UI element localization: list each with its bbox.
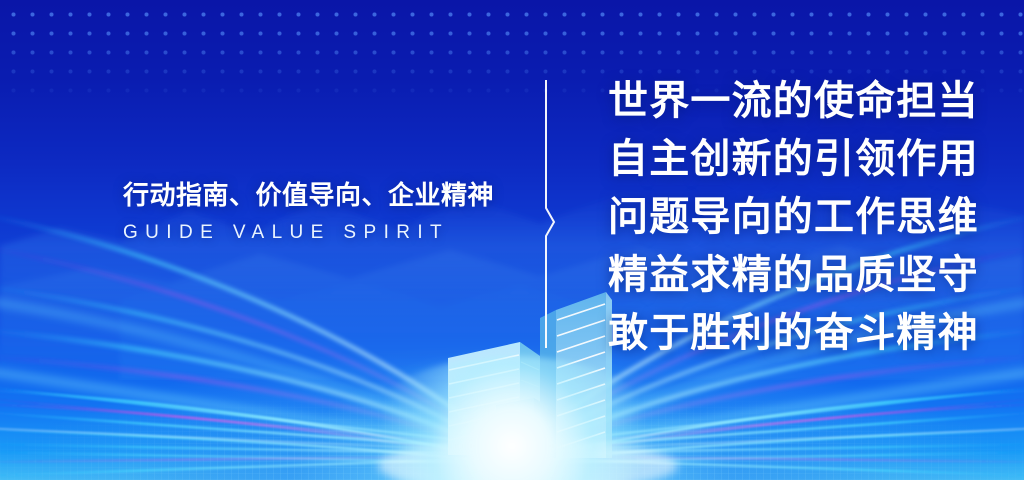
slogan-line-1: 世界一流的使命担当 [608, 72, 978, 130]
slogan-line-5: 敢于胜利的奋斗精神 [608, 304, 978, 362]
vertical-divider [528, 80, 568, 348]
halftone-dot-pattern-overlay [0, 0, 1024, 60]
slogan-line-4: 精益求精的品质坚守 [608, 246, 978, 304]
center-light-bloom [362, 356, 662, 480]
left-subtitle: GUIDE VALUE SPIRIT [123, 222, 523, 244]
right-text-block: 世界一流的使命担当 自主创新的引领作用 问题导向的工作思维 精益求精的品质坚守 … [608, 72, 978, 362]
left-text-block: 行动指南、价值导向、企业精神 GUIDE VALUE SPIRIT [123, 180, 523, 244]
left-title: 行动指南、价值导向、企业精神 [123, 180, 523, 211]
banner-root: 行动指南、价值导向、企业精神 GUIDE VALUE SPIRIT 世界一流的使… [0, 0, 1024, 480]
ground-grid [0, 384, 1024, 480]
slogan-line-3: 问题导向的工作思维 [608, 188, 978, 246]
slogan-line-2: 自主创新的引领作用 [608, 130, 978, 188]
